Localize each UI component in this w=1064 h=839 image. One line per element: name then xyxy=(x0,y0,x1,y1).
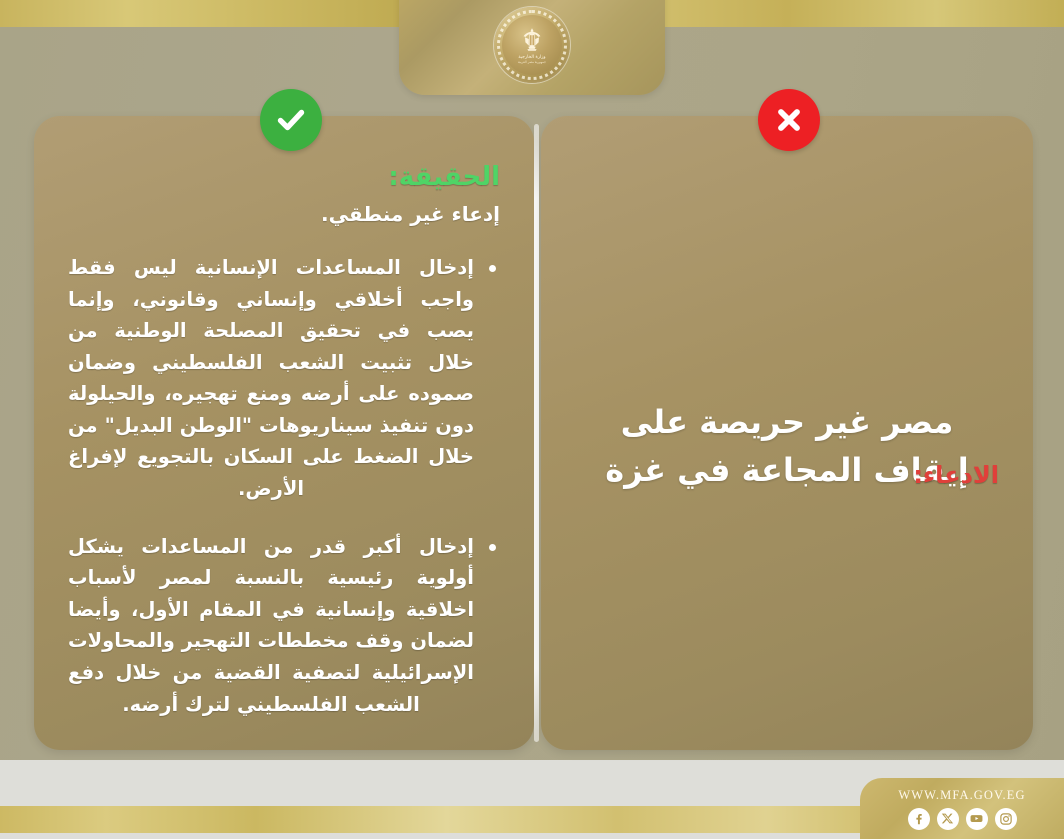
truth-check-badge xyxy=(260,89,322,151)
fact-check-card: وزارة الخارجية جمهورية مصر العربية الحقي… xyxy=(0,0,1064,839)
website-url[interactable]: WWW.MFA.GOV.EG xyxy=(898,788,1025,803)
social-links-row xyxy=(908,808,1017,830)
truth-heading: الحقيقة: xyxy=(68,162,500,192)
truth-panel: الحقيقة: إدعاء غير منطقي. إدخال المساعدا… xyxy=(34,116,534,750)
seal-inner: وزارة الخارجية جمهورية مصر العربية xyxy=(502,15,562,75)
eagle-of-saladin-icon xyxy=(520,27,544,53)
panel-divider xyxy=(534,124,539,742)
youtube-icon[interactable] xyxy=(966,808,988,830)
claim-heading: الادعاء: xyxy=(913,461,999,489)
claim-panel: الادعاء: مصر غير حريصة على إيقاف المجاعة… xyxy=(541,116,1033,750)
footer-plaque: WWW.MFA.GOV.EG xyxy=(860,778,1064,839)
x-twitter-icon[interactable] xyxy=(937,808,959,830)
egypt-mfa-seal-icon: وزارة الخارجية جمهورية مصر العربية xyxy=(494,7,570,83)
list-item: إدخال المساعدات الإنسانية ليس فقط واجب أ… xyxy=(68,252,500,505)
logo-plaque: وزارة الخارجية جمهورية مصر العربية xyxy=(399,0,665,95)
seal-text-country: جمهورية مصر العربية xyxy=(518,60,546,64)
truth-bullet-list: إدخال المساعدات الإنسانية ليس فقط واجب أ… xyxy=(68,252,500,720)
instagram-icon[interactable] xyxy=(995,808,1017,830)
facebook-icon[interactable] xyxy=(908,808,930,830)
claim-x-badge xyxy=(758,89,820,151)
check-icon xyxy=(274,103,308,137)
truth-subheading: إدعاء غير منطقي. xyxy=(68,202,500,226)
list-item: إدخال أكبر قدر من المساعدات يشكل أولوية … xyxy=(68,531,500,720)
x-icon xyxy=(772,103,806,137)
